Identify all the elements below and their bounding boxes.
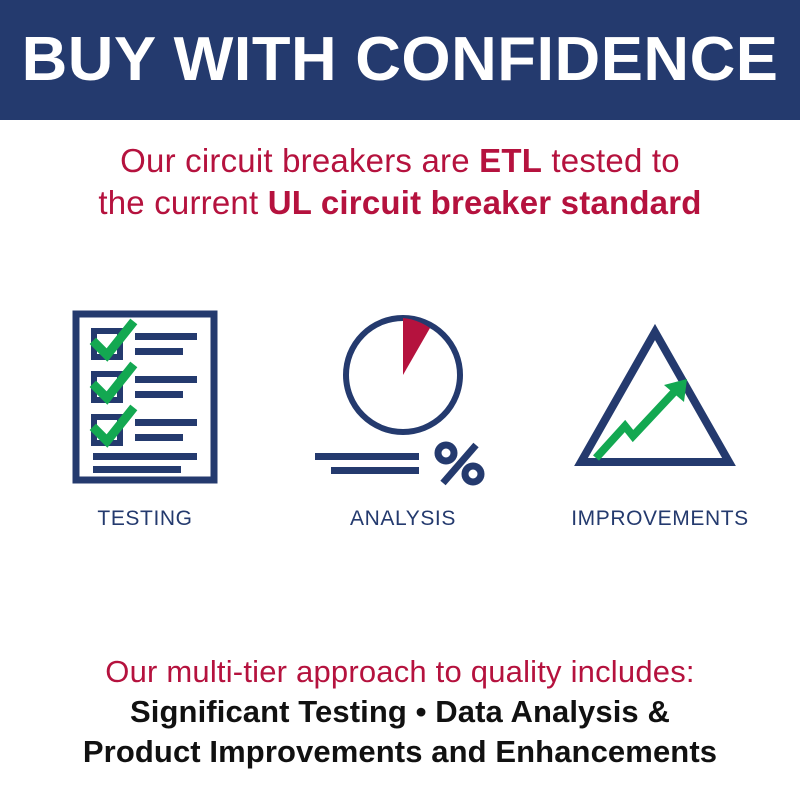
subtitle-line-2: the current UL circuit breaker standard [0, 182, 800, 224]
subtitle-line-1-prefix: Our circuit breakers are [120, 142, 479, 179]
feature-row: TESTING [0, 295, 800, 555]
subtitle-line-1-suffix: tested to [542, 142, 680, 179]
bottom-lead-text: Our multi-tier approach to quality inclu… [0, 652, 800, 692]
feature-label-improvements: IMPROVEMENTS [540, 507, 780, 531]
header-band: BUY WITH CONFIDENCE [0, 0, 800, 120]
subtitle-line-1: Our circuit breakers are ETL tested to [0, 140, 800, 182]
page-title: BUY WITH CONFIDENCE [22, 29, 779, 91]
promo-banner: BUY WITH CONFIDENCE Our circuit breakers… [0, 0, 800, 800]
bottom-strong-line-1: Significant Testing • Data Analysis & [0, 692, 800, 732]
growth-triangle-icon [540, 295, 780, 490]
subtitle-line-2-prefix: the current [98, 184, 267, 221]
bottom-strong-line-2: Product Improvements and Enhancements [0, 732, 800, 772]
checklist-icon [25, 295, 265, 490]
subtitle-line-1-bold: ETL [479, 142, 542, 179]
feature-label-testing: TESTING [25, 507, 265, 531]
feature-analysis: ANALYSIS [283, 295, 523, 555]
subtitle: Our circuit breakers are ETL tested to t… [0, 140, 800, 224]
feature-testing: TESTING [25, 295, 265, 555]
pie-chart-icon [283, 295, 523, 490]
bottom-text-block: Our multi-tier approach to quality inclu… [0, 652, 800, 772]
feature-label-analysis: ANALYSIS [283, 507, 523, 531]
subtitle-line-2-bold: UL circuit breaker standard [268, 184, 702, 221]
feature-improvements: IMPROVEMENTS [540, 295, 780, 555]
